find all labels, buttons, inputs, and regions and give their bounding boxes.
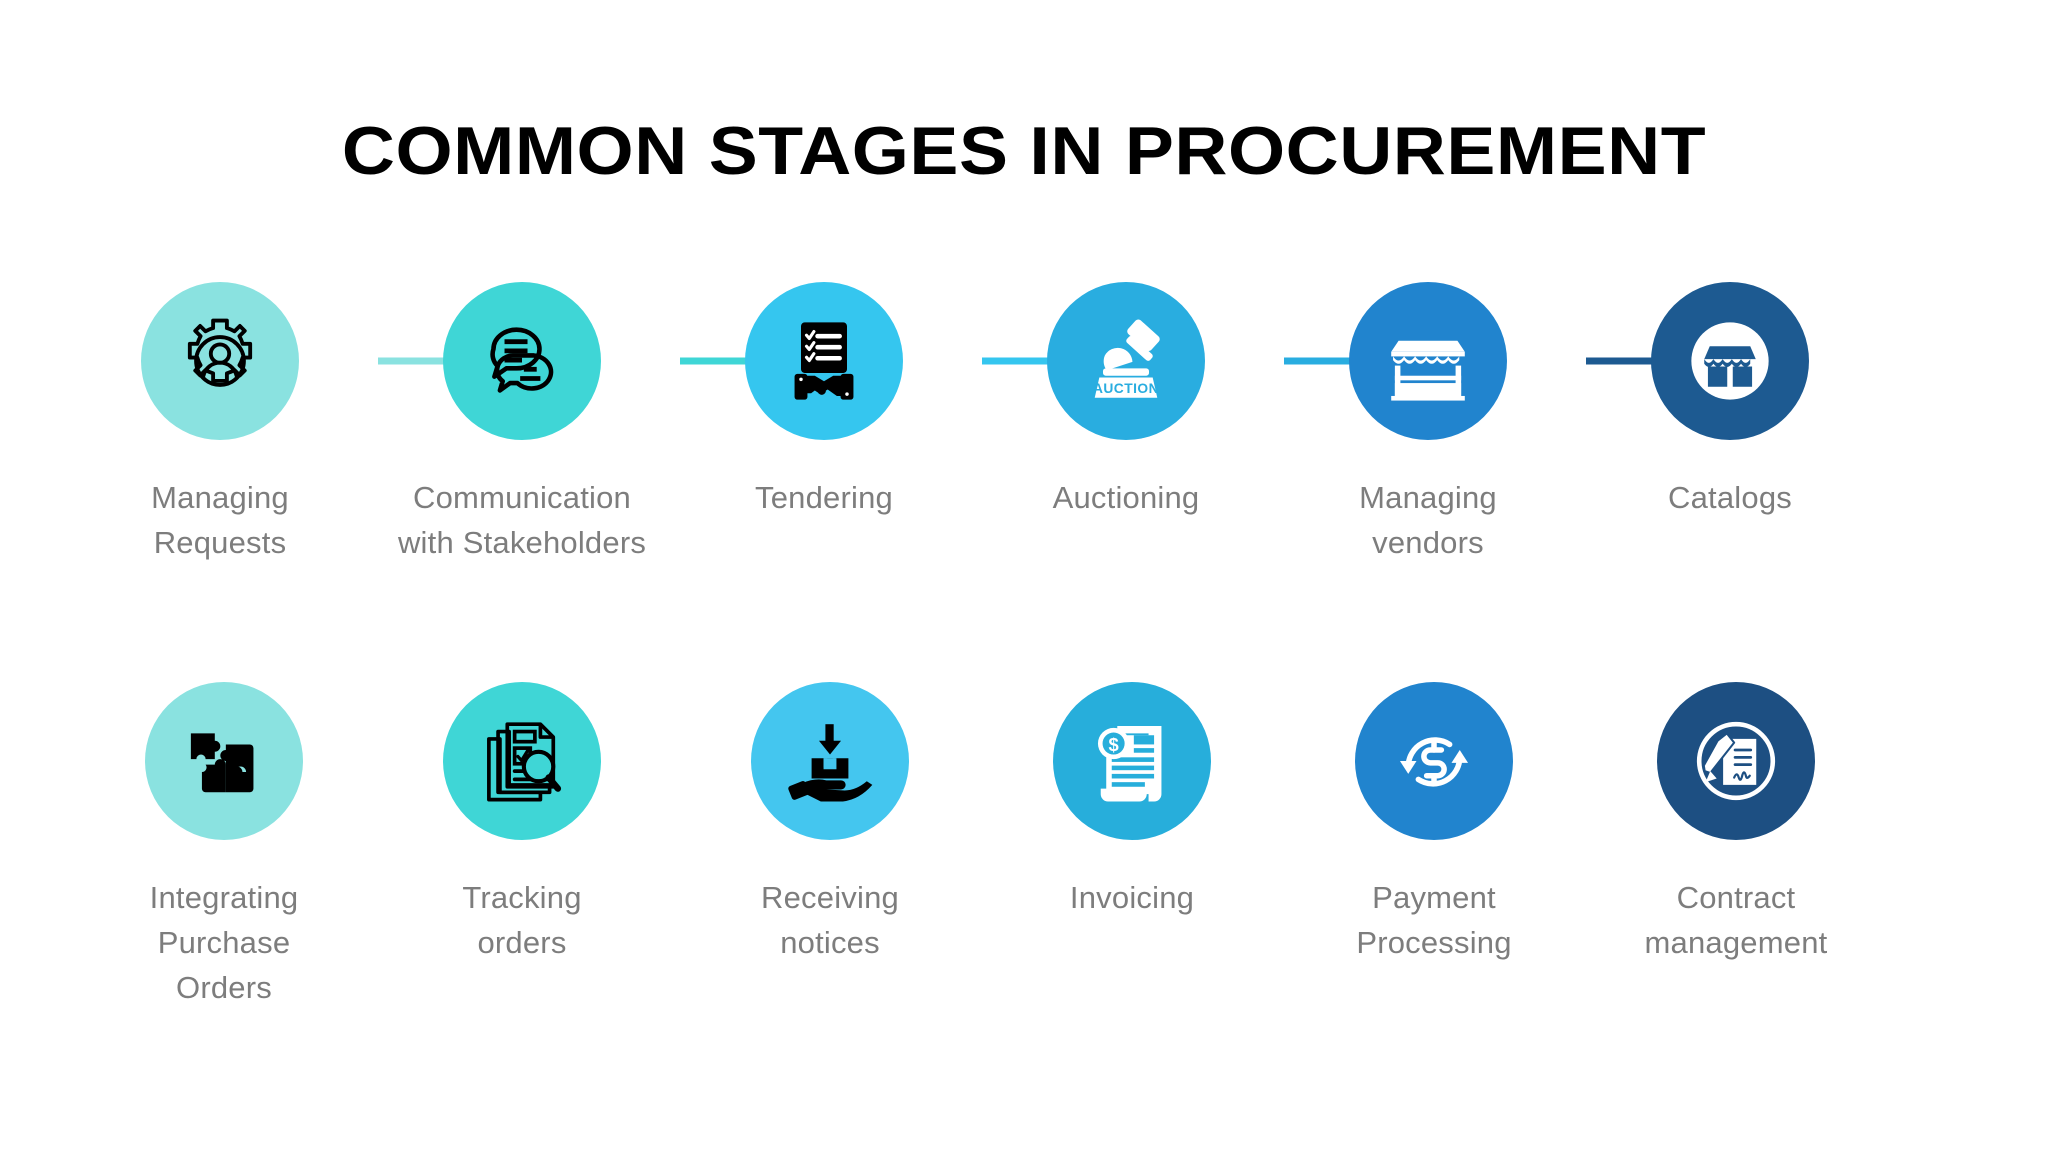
stage-node[interactable]: Catalogs xyxy=(1580,282,1880,520)
stage-icon-circle[interactable] xyxy=(1355,682,1513,840)
stage-label: Payment Processing xyxy=(1284,875,1584,965)
stage-node[interactable]: Payment Processing xyxy=(1284,682,1584,965)
stage-icon-circle[interactable]: AUCTION xyxy=(1047,282,1205,440)
svg-text:$: $ xyxy=(1108,734,1118,755)
invoice-dollar-icon: $ xyxy=(1086,715,1178,807)
gear-person-icon xyxy=(174,315,266,407)
stage-icon-circle[interactable] xyxy=(443,282,601,440)
stage-label: Managing vendors xyxy=(1278,475,1578,565)
documents-search-icon xyxy=(476,715,568,807)
contract-signature-icon xyxy=(1690,715,1782,807)
stage-node[interactable]: Managing vendors xyxy=(1278,282,1578,565)
stage-node[interactable]: Communication with Stakeholders xyxy=(372,282,672,565)
speech-bubbles-icon xyxy=(476,315,568,407)
stage-icon-circle[interactable] xyxy=(1657,682,1815,840)
stage-node[interactable]: AUCTION Auctioning xyxy=(976,282,1276,520)
stage-icon-circle[interactable] xyxy=(745,282,903,440)
stage-label: Catalogs xyxy=(1580,475,1880,520)
stage-node[interactable]: Tendering xyxy=(674,282,974,520)
storefront-circle-icon xyxy=(1684,315,1776,407)
page-title: COMMON STAGES IN PROCUREMENT xyxy=(0,112,2048,190)
stage-icon-circle[interactable]: $ xyxy=(1053,682,1211,840)
stage-label: Managing Requests xyxy=(70,475,370,565)
auction-gavel-icon: AUCTION xyxy=(1080,315,1172,407)
payment-cycle-icon xyxy=(1388,715,1480,807)
stage-icon-circle[interactable] xyxy=(141,282,299,440)
package-hand-icon xyxy=(784,715,876,807)
stage-node[interactable]: Tracking orders xyxy=(372,682,672,965)
stage-label: Invoicing xyxy=(982,875,1282,920)
stage-label: Integrating Purchase Orders xyxy=(74,875,374,1010)
stage-label: Auctioning xyxy=(976,475,1276,520)
stage-label: Tracking orders xyxy=(372,875,672,965)
stage-label: Communication with Stakeholders xyxy=(372,475,672,565)
stage-node[interactable]: Contract management xyxy=(1586,682,1886,965)
stage-node[interactable]: Managing Requests xyxy=(70,282,370,565)
svg-text:AUCTION: AUCTION xyxy=(1093,381,1159,396)
stage-node[interactable]: Integrating Purchase Orders xyxy=(74,682,374,1010)
puzzle-pieces-icon xyxy=(178,715,270,807)
stage-node[interactable]: $ Invoicing xyxy=(982,682,1282,920)
infographic-slide: COMMON STAGES IN PROCUREMENT Managing Re… xyxy=(0,0,2048,1152)
stage-icon-circle[interactable] xyxy=(1651,282,1809,440)
stage-icon-circle[interactable] xyxy=(443,682,601,840)
stage-icon-circle[interactable] xyxy=(145,682,303,840)
stage-label: Receiving notices xyxy=(680,875,980,965)
stage-label: Tendering xyxy=(674,475,974,520)
stage-label: Contract management xyxy=(1586,875,1886,965)
stage-icon-circle[interactable] xyxy=(1349,282,1507,440)
stage-node[interactable]: Receiving notices xyxy=(680,682,980,965)
market-stall-icon xyxy=(1382,315,1474,407)
contract-handshake-icon xyxy=(778,315,870,407)
stage-icon-circle[interactable] xyxy=(751,682,909,840)
